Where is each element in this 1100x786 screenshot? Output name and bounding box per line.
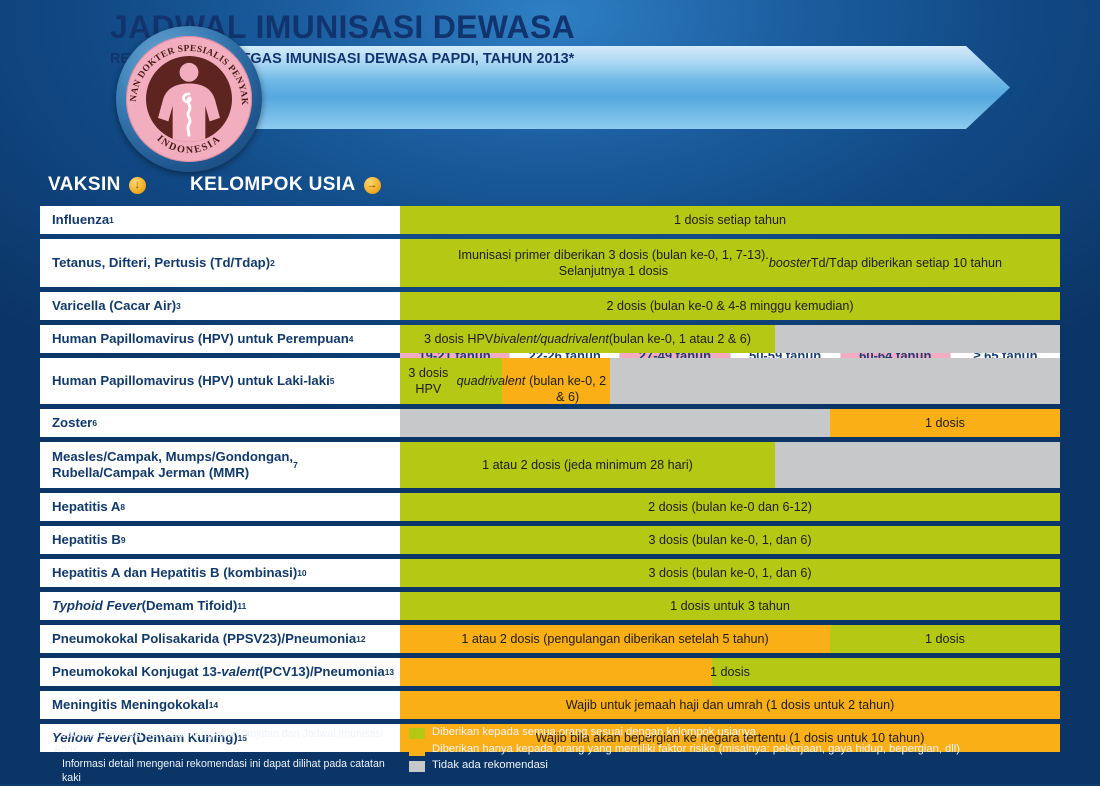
- footnote: * Jadwal Imunisasi Dewasa merupakan lanj…: [54, 727, 404, 786]
- footnote-marker: 5: [330, 376, 335, 386]
- table-row: Hepatitis A dan Hepatitis B (kombinasi)1…: [40, 559, 1060, 587]
- legend-swatch-grey: [409, 761, 425, 772]
- table-row: Human Papillomavirus (HPV) untuk Perempu…: [40, 325, 1060, 353]
- bar-segment-green[interactable]: 2 dosis (bulan ke-0 & 4-8 minggu kemudia…: [400, 292, 1060, 320]
- recommendation-bars: 1 dosis: [400, 409, 1060, 437]
- legend-item: Tidak ada rekomendasi: [409, 759, 960, 773]
- recommendation-bars: 2 dosis (bulan ke-0 dan 6-12): [400, 493, 1060, 521]
- footnote-marker: 4: [349, 334, 354, 344]
- vaccine-name: Tetanus, Difteri, Pertusis (Td/Tdap)2: [40, 239, 400, 287]
- vaccine-name: Meningitis Meningokokal14: [40, 691, 400, 719]
- infographic-page: PERHIMPUNAN DOKTER SPESIALIS PENYAKIT DA…: [0, 0, 1100, 784]
- table-row: Hepatitis B93 dosis (bulan ke-0, 1, dan …: [40, 526, 1060, 554]
- footnote-marker: 8: [120, 502, 125, 512]
- logo-ring-text: PERHIMPUNAN DOKTER SPESIALIS PENYAKIT DA…: [116, 26, 262, 172]
- recommendation-bars: 1 dosis setiap tahun: [400, 206, 1060, 234]
- legend-item: Diberikan hanya kepada orang yang memili…: [409, 743, 960, 757]
- vaksin-column-label: VAKSIN: [48, 174, 121, 196]
- bar-segment-orange[interactable]: 1 dosis: [830, 409, 1060, 437]
- footnote-marker: 9: [121, 535, 126, 545]
- vaccine-name: Human Papillomavirus (HPV) untuk Perempu…: [40, 325, 400, 353]
- vaccine-name: Varicella (Cacar Air)3: [40, 292, 400, 320]
- footnote-marker: 3: [176, 301, 181, 311]
- logo-ring-text-bottom: INDONESIA: [155, 133, 224, 156]
- table-row: Measles/Campak, Mumps/Gondongan,Rubella/…: [40, 442, 1060, 488]
- table-row: Pneumokokal Polisakarida (PPSV23)/Pneumo…: [40, 625, 1060, 653]
- legend-swatch-green: [409, 728, 425, 739]
- bar-segment-green[interactable]: 3 dosis (bulan ke-0, 1, dan 6): [400, 526, 1060, 554]
- vaccine-name: Zoster6: [40, 409, 400, 437]
- footnote-marker: 6: [92, 418, 97, 428]
- table-row: Meningitis Meningokokal14Wajib untuk jem…: [40, 691, 1060, 719]
- bar-segment-grey[interactable]: [610, 358, 1060, 404]
- logo-ring-text-top: PERHIMPUNAN DOKTER SPESIALIS PENYAKIT DA…: [116, 26, 249, 106]
- vaccine-name: Hepatitis A8: [40, 493, 400, 521]
- recommendation-bars: 3 dosis (bulan ke-0, 1, dan 6): [400, 559, 1060, 587]
- immunization-table: Influenza11 dosis setiap tahunTetanus, D…: [40, 206, 1060, 757]
- bar-segment-label: 3 dosis HPV quadrivalent(bulan ke-0, 2 &…: [400, 358, 610, 404]
- recommendation-bars: 1 dosis: [400, 658, 1060, 686]
- usia-column-label: KELOMPOK USIA: [190, 174, 356, 196]
- bar-segment-green[interactable]: 3 dosis (bulan ke-0, 1, dan 6): [400, 559, 1060, 587]
- vaccine-name: Pneumokokal Polisakarida (PPSV23)/Pneumo…: [40, 625, 400, 653]
- bar-segment-green[interactable]: 2 dosis (bulan ke-0 dan 6-12): [400, 493, 1060, 521]
- recommendation-bars: 3 dosis HPV bivalent/quadrivalent (bulan…: [400, 325, 1060, 353]
- footnote-marker: 10: [297, 568, 306, 578]
- vaccine-name: Human Papillomavirus (HPV) untuk Laki-la…: [40, 358, 400, 404]
- legend: Diberikan kepada semua orang sesuai deng…: [409, 726, 960, 776]
- bar-segment-green[interactable]: 1 dosis untuk 3 tahun: [400, 592, 1060, 620]
- legend-swatch-orange: [409, 745, 425, 756]
- footnote-marker: 11: [237, 601, 246, 611]
- legend-item: Diberikan kepada semua orang sesuai deng…: [409, 726, 960, 740]
- table-row: Influenza11 dosis setiap tahun: [40, 206, 1060, 234]
- recommendation-bars: Wajib untuk jemaah haji dan umrah (1 dos…: [400, 691, 1060, 719]
- table-row: Pneumokokal Konjugat 13-valent (PCV13)/P…: [40, 658, 1060, 686]
- recommendation-bars: 2 dosis (bulan ke-0 & 4-8 minggu kemudia…: [400, 292, 1060, 320]
- vaccine-name: Influenza1: [40, 206, 400, 234]
- vaccine-name: Hepatitis B9: [40, 526, 400, 554]
- table-row: Tetanus, Difteri, Pertusis (Td/Tdap)2Imu…: [40, 239, 1060, 287]
- legend-label: Diberikan kepada semua orang sesuai deng…: [432, 726, 756, 740]
- table-row: Typhoid Fever (Demam Tifoid)111 dosis un…: [40, 592, 1060, 620]
- recommendation-bars: 1 dosis untuk 3 tahun: [400, 592, 1060, 620]
- recommendation-bars: 3 dosis (bulan ke-0, 1, dan 6): [400, 526, 1060, 554]
- legend-label: Tidak ada rekomendasi: [432, 759, 548, 773]
- table-row: Hepatitis A82 dosis (bulan ke-0 dan 6-12…: [40, 493, 1060, 521]
- bar-segment-green[interactable]: 1 dosis setiap tahun: [400, 206, 1060, 234]
- bar-segment-orange[interactable]: 1 atau 2 dosis (pengulangan diberikan se…: [400, 625, 830, 653]
- vaksin-column-header: VAKSIN ↓: [48, 174, 146, 196]
- bar-segment-grey[interactable]: [775, 442, 1060, 488]
- vaccine-name: Typhoid Fever (Demam Tifoid)11: [40, 592, 400, 620]
- arrow-down-icon: ↓: [129, 177, 146, 194]
- header: PERHIMPUNAN DOKTER SPESIALIS PENYAKIT DA…: [0, 0, 1100, 160]
- table-row: Human Papillomavirus (HPV) untuk Laki-la…: [40, 358, 1060, 404]
- bar-segment-grey[interactable]: [775, 325, 1060, 353]
- recommendation-bars: Imunisasi primer diberikan 3 dosis (bula…: [400, 239, 1060, 287]
- bar-segment-green[interactable]: 1 dosis: [830, 625, 1060, 653]
- vaccine-name: Measles/Campak, Mumps/Gondongan,Rubella/…: [40, 442, 400, 488]
- footnote-marker: 14: [209, 700, 218, 710]
- papdi-logo: PERHIMPUNAN DOKTER SPESIALIS PENYAKIT DA…: [116, 26, 262, 172]
- footnote-line-2: Informasi detail mengenai rekomendasi in…: [54, 757, 404, 786]
- column-headers: VAKSIN ↓ KELOMPOK USIA → 19-21 tahun22-2…: [0, 168, 1100, 204]
- footnote-line-1: * Jadwal Imunisasi Dewasa merupakan lanj…: [54, 727, 404, 757]
- vaccine-name: Pneumokokal Konjugat 13-valent (PCV13)/P…: [40, 658, 400, 686]
- legend-label: Diberikan hanya kepada orang yang memili…: [432, 743, 960, 757]
- footnote-marker: 2: [270, 258, 275, 268]
- bar-segment-label: 1 dosis: [400, 658, 1060, 686]
- footnote-marker: 12: [356, 634, 365, 644]
- bar-segment-orange[interactable]: Wajib untuk jemaah haji dan umrah (1 dos…: [400, 691, 1060, 719]
- recommendation-bars: 1 atau 2 dosis (jeda minimum 28 hari): [400, 442, 1060, 488]
- bar-segment-green[interactable]: 1 atau 2 dosis (jeda minimum 28 hari): [400, 442, 775, 488]
- recommendation-bars: 3 dosis HPV quadrivalent(bulan ke-0, 2 &…: [400, 358, 1060, 404]
- bar-segment-green[interactable]: 3 dosis HPV bivalent/quadrivalent (bulan…: [400, 325, 775, 353]
- footnote-marker: 7: [293, 460, 298, 470]
- table-row: Varicella (Cacar Air)32 dosis (bulan ke-…: [40, 292, 1060, 320]
- vaccine-name: Hepatitis A dan Hepatitis B (kombinasi)1…: [40, 559, 400, 587]
- table-row: Zoster61 dosis: [40, 409, 1060, 437]
- usia-column-header: KELOMPOK USIA →: [190, 174, 381, 196]
- recommendation-bars: 1 atau 2 dosis (pengulangan diberikan se…: [400, 625, 1060, 653]
- arrow-right-icon: →: [364, 177, 381, 194]
- bar-segment-grey[interactable]: [400, 409, 830, 437]
- bar-segment-green[interactable]: Imunisasi primer diberikan 3 dosis (bula…: [400, 239, 1060, 287]
- footnote-marker: 1: [109, 215, 114, 225]
- footnote-marker: 13: [385, 667, 394, 677]
